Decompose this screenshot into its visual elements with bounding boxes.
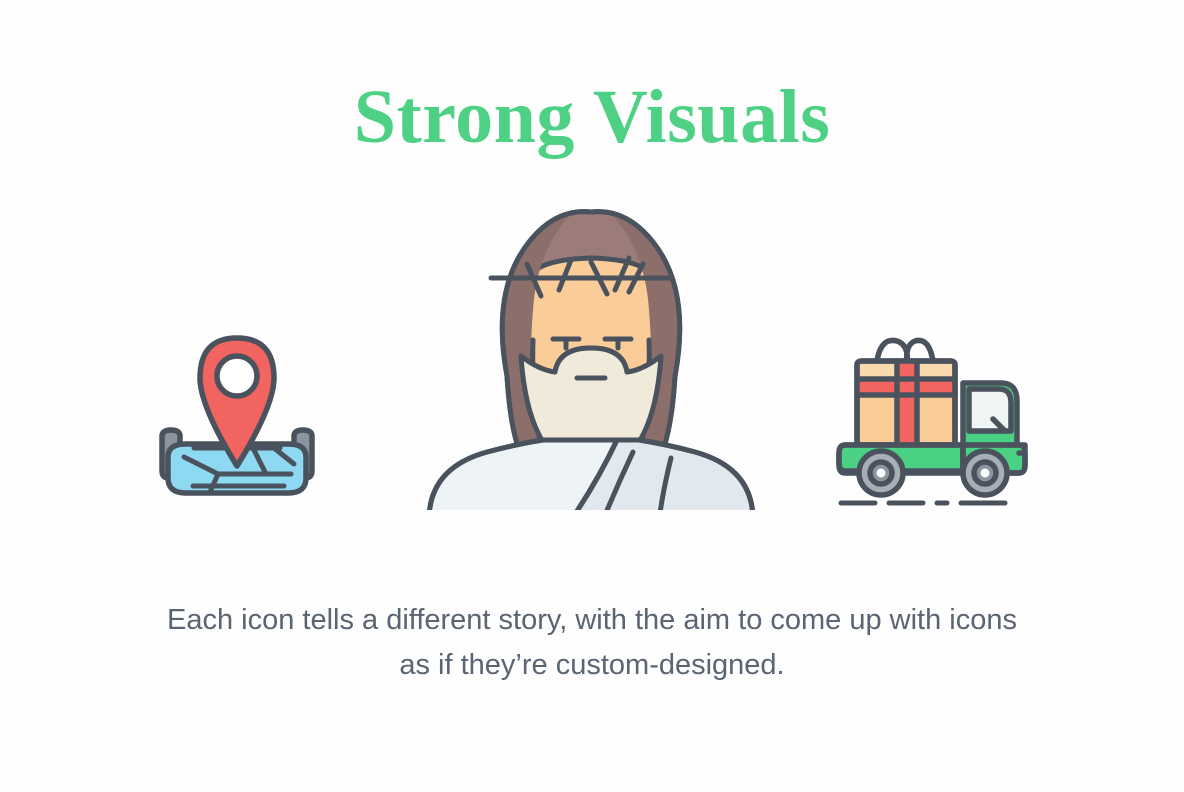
gift-box	[857, 361, 955, 445]
jesus-avatar-svg	[421, 190, 761, 520]
jesus-avatar-icon	[421, 190, 761, 520]
figure-robe	[429, 440, 753, 520]
delivery-truck-svg	[833, 321, 1043, 516]
delivery-truck-icon	[823, 316, 1053, 516]
map-pin-icon	[131, 316, 361, 516]
slide-canvas: Strong Visuals	[0, 0, 1184, 792]
icon-row	[0, 180, 1184, 520]
page-caption: Each icon tells a different story, with …	[167, 520, 1017, 688]
map-pin-hole	[217, 356, 257, 396]
truck-wheel-front	[963, 451, 1007, 495]
truck-wheel-rear	[859, 451, 903, 495]
map-pin-svg	[146, 326, 346, 516]
page-title: Strong Visuals	[354, 0, 831, 158]
